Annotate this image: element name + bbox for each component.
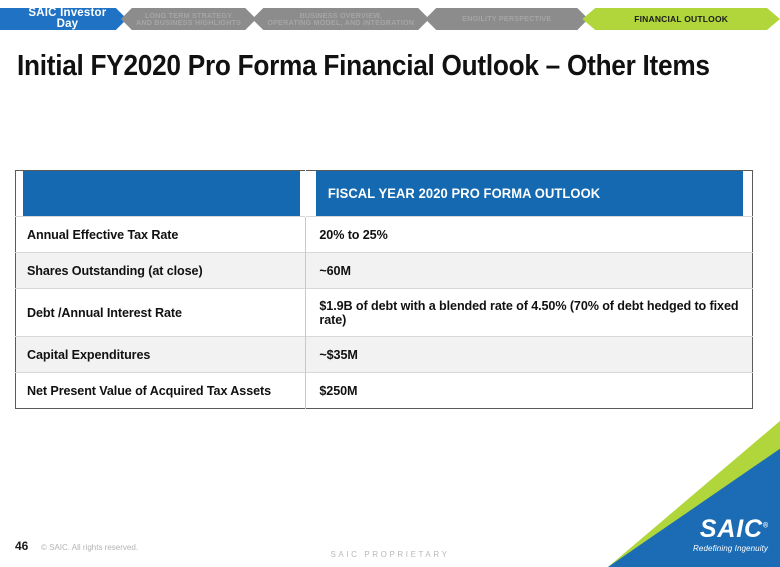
row-value-shares-outstanding: ~60M xyxy=(306,253,753,289)
row-label-capital-expenditures: Capital Expenditures xyxy=(16,337,306,373)
table-body: Annual Effective Tax Rate 20% to 25% Sha… xyxy=(16,217,753,409)
row-value-annual-effective-tax-rate: 20% to 25% xyxy=(306,217,753,253)
saic-logo: SAIC® Redefining Ingenuity xyxy=(656,517,768,553)
financial-outlook-table: FISCAL YEAR 2020 PRO FORMA OUTLOOK Annua… xyxy=(15,170,753,409)
table-header-row: FISCAL YEAR 2020 PRO FORMA OUTLOOK xyxy=(16,171,753,217)
row-value-npv-acquired-tax-assets: $250M xyxy=(306,373,753,409)
nav-chevron-investor-day[interactable]: SAIC Investor Day xyxy=(0,8,127,30)
nav-chevron-label: BUSINESS OVERVIEW, OPERATING MODEL, AND … xyxy=(267,12,414,26)
table-header-fiscal-year: FISCAL YEAR 2020 PRO FORMA OUTLOOK xyxy=(315,171,744,217)
nav-chevron-label: FINANCIAL OUTLOOK xyxy=(634,15,728,24)
row-value-capital-expenditures: ~$35M xyxy=(306,337,753,373)
nav-chevron-label: SAIC Investor Day xyxy=(18,8,117,31)
table-row: Annual Effective Tax Rate 20% to 25% xyxy=(16,217,753,253)
slide-canvas: SAIC Investor Day LONG TERM STRATEGY AND… xyxy=(0,0,780,567)
nav-chevron-engility-perspective[interactable]: ENGILITY PERSPECTIVE xyxy=(425,8,588,30)
page-title: Initial FY2020 Pro Forma Financial Outlo… xyxy=(17,50,698,83)
table-row: Net Present Value of Acquired Tax Assets… xyxy=(16,373,753,409)
row-value-debt-annual-interest-rate: $1.9B of debt with a blended rate of 4.5… xyxy=(306,289,753,337)
section-nav-chevrons: SAIC Investor Day LONG TERM STRATEGY AND… xyxy=(0,8,780,30)
saic-logo-wordmark: SAIC® xyxy=(656,517,768,542)
table-header: FISCAL YEAR 2020 PRO FORMA OUTLOOK xyxy=(16,171,753,217)
table-header-blank xyxy=(21,171,300,217)
nav-chevron-label: ENGILITY PERSPECTIVE xyxy=(462,15,551,22)
row-label-annual-effective-tax-rate: Annual Effective Tax Rate xyxy=(16,217,306,253)
nav-chevron-business-overview[interactable]: BUSINESS OVERVIEW, OPERATING MODEL, AND … xyxy=(252,8,429,30)
registered-trademark-icon: ® xyxy=(763,523,768,530)
nav-chevron-label: LONG TERM STRATEGY AND BUSINESS HIGHLIGH… xyxy=(136,12,241,26)
row-label-debt-annual-interest-rate: Debt /Annual Interest Rate xyxy=(16,289,306,337)
table-row: Shares Outstanding (at close) ~60M xyxy=(16,253,753,289)
nav-chevron-long-term-strategy[interactable]: LONG TERM STRATEGY AND BUSINESS HIGHLIGH… xyxy=(121,8,256,30)
table-row: Debt /Annual Interest Rate $1.9B of debt… xyxy=(16,289,753,337)
saic-logo-text: SAIC xyxy=(700,515,763,543)
nav-chevron-financial-outlook[interactable]: FINANCIAL OUTLOOK xyxy=(582,8,780,30)
row-label-npv-acquired-tax-assets: Net Present Value of Acquired Tax Assets xyxy=(16,373,306,409)
row-label-shares-outstanding: Shares Outstanding (at close) xyxy=(16,253,306,289)
table-row: Capital Expenditures ~$35M xyxy=(16,337,753,373)
classification-banner: SAIC PROPRIETARY xyxy=(0,550,780,559)
